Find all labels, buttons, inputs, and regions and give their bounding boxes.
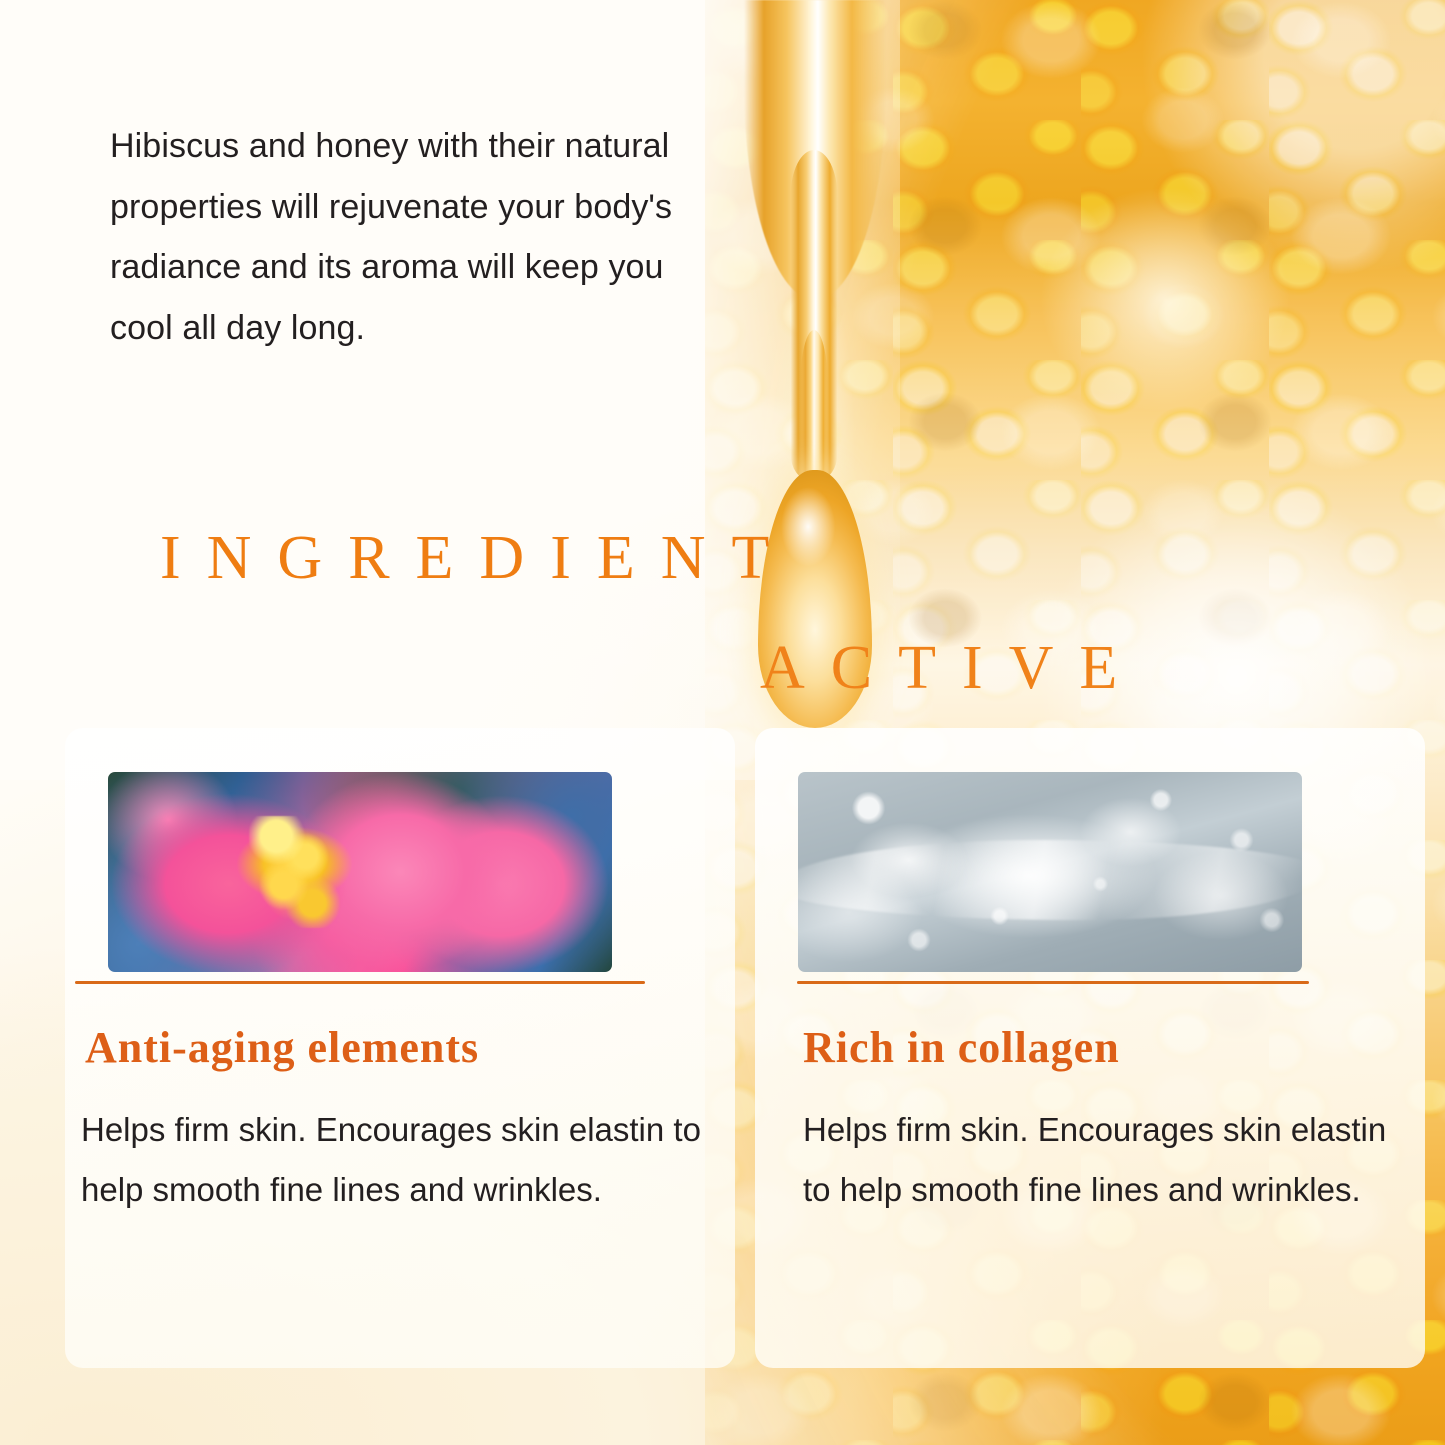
card-body-collagen: Helps firm skin. Encourages skin elastin…	[803, 1100, 1403, 1220]
card-body-anti-aging: Helps firm skin. Encourages skin elastin…	[81, 1100, 705, 1220]
card-divider-rule	[75, 981, 645, 984]
ingredient-card-anti-aging: Anti-aging elements Helps firm skin. Enc…	[65, 728, 735, 1368]
honeycomb-highlight-bloom-secondary	[1005, 150, 1325, 450]
ingredient-card-collagen: Rich in collagen Helps firm skin. Encour…	[755, 728, 1425, 1368]
card-divider-rule	[797, 981, 1309, 984]
intro-paragraph: Hibiscus and honey with their natural pr…	[110, 116, 690, 358]
water-gel-image	[798, 772, 1302, 972]
hibiscus-stamen-detail	[249, 816, 340, 928]
ingredient-active-poster: Hibiscus and honey with their natural pr…	[0, 0, 1445, 1445]
hibiscus-flower-image	[108, 772, 612, 972]
card-title-anti-aging: Anti-aging elements	[85, 1022, 705, 1073]
card-title-collagen: Rich in collagen	[803, 1022, 1423, 1073]
water-bubbles-detail	[798, 772, 1302, 972]
